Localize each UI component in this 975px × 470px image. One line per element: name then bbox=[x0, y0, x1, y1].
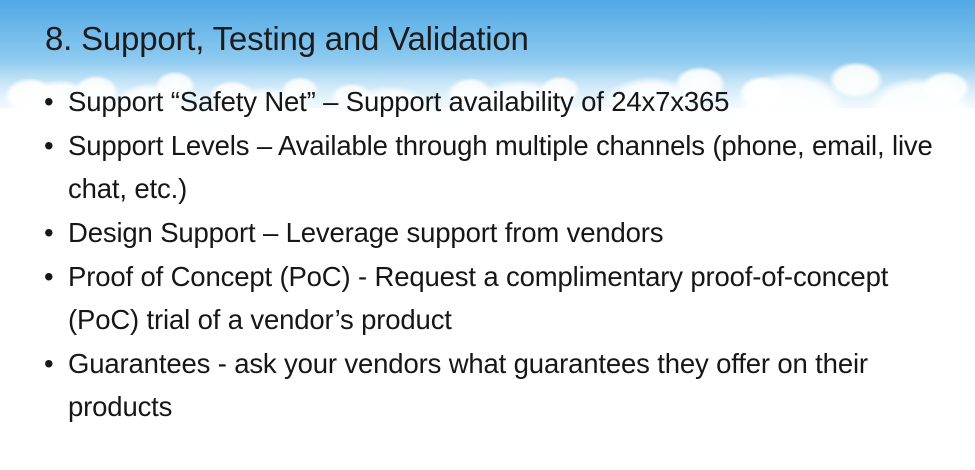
bullet-marker-icon: • bbox=[44, 124, 53, 167]
slide-content: 8. Support, Testing and Validation • Sup… bbox=[0, 0, 975, 470]
slide-title: 8. Support, Testing and Validation bbox=[45, 20, 529, 58]
bullet-text-4: Proof of Concept (PoC) - Request a compl… bbox=[68, 261, 888, 335]
bullet-item-2: • Support Levels – Available through mul… bbox=[38, 124, 943, 210]
bullet-text-3: Design Support – Leverage support from v… bbox=[68, 217, 663, 248]
bullet-text-1: Support “Safety Net” – Support availabil… bbox=[68, 86, 729, 117]
bullet-text-5: Guarantees - ask your vendors what guara… bbox=[68, 348, 868, 422]
bullet-item-3: • Design Support – Leverage support from… bbox=[38, 211, 943, 254]
bullet-item-1: • Support “Safety Net” – Support availab… bbox=[38, 80, 943, 123]
bullet-marker-icon: • bbox=[44, 255, 53, 298]
presentation-slide: 8. Support, Testing and Validation • Sup… bbox=[0, 0, 975, 470]
bullet-item-5: • Guarantees - ask your vendors what gua… bbox=[38, 342, 943, 428]
bullet-list: • Support “Safety Net” – Support availab… bbox=[38, 80, 943, 429]
bullet-marker-icon: • bbox=[44, 211, 53, 254]
bullet-text-2: Support Levels – Available through multi… bbox=[68, 130, 933, 204]
bullet-marker-icon: • bbox=[44, 342, 53, 385]
bullet-marker-icon: • bbox=[44, 80, 53, 123]
bullet-item-4: • Proof of Concept (PoC) - Request a com… bbox=[38, 255, 943, 341]
